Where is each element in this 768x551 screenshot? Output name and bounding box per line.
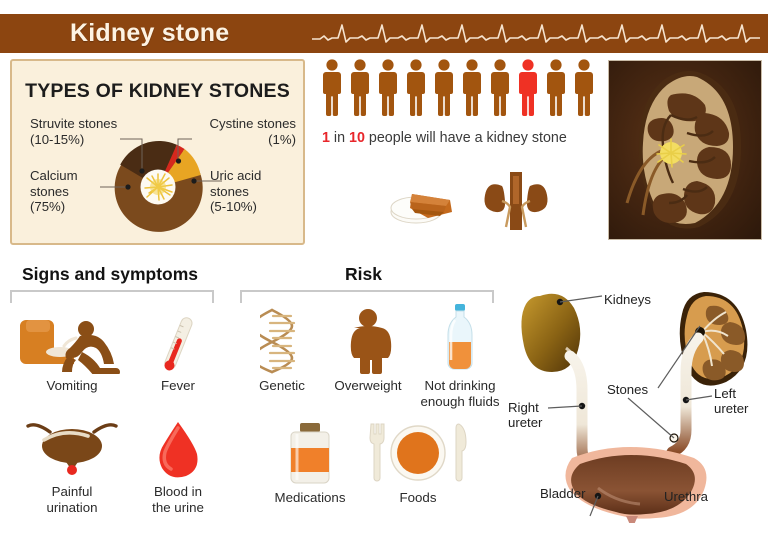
stat-highlight-number: 10 (349, 130, 365, 146)
pie-label-struvite: Struvite stones (10-15%) (30, 116, 165, 147)
symptom-vomiting: Vomiting (16, 312, 128, 394)
symptom-painful-urination-label: Painful urination (16, 484, 128, 515)
types-of-kidney-stones-panel: TYPES OF KIDNEY STONES (10, 59, 305, 245)
risk-foods-label: Foods (360, 490, 476, 506)
people-statistic-icons (322, 58, 598, 120)
kidneys-pair-illustration-icon (480, 168, 552, 234)
stat-middle-text: in (330, 130, 349, 146)
infographic-root: Kidney stone TYPES OF KIDNEY STONES (0, 0, 768, 551)
risk-genetic: Genetic (240, 308, 324, 394)
symptom-vomiting-label: Vomiting (16, 378, 128, 394)
kidney-stone-types-pie-chart (12, 61, 303, 243)
symptom-blood-in-urine-label: Blood in the urine (134, 484, 222, 515)
pie-label-calcium: Calcium stones (75%) (30, 168, 110, 215)
tract-label-stones: Stones (607, 382, 648, 397)
water-bottle-icon (410, 302, 510, 374)
pie-label-cystine: Cystine stones (1%) (178, 116, 296, 147)
signs-section-bracket (10, 290, 214, 303)
vomiting-icon (16, 312, 128, 374)
kidney-stone-in-dish-icon (388, 176, 464, 228)
ecg-heartbeat-line (312, 20, 760, 48)
pill-bottle-icon (262, 420, 358, 486)
tract-label-left-ureter: Left ureter (714, 386, 748, 416)
tract-label-urethra: Urethra (664, 489, 708, 504)
signs-and-symptoms-heading: Signs and symptoms (22, 264, 198, 285)
risk-not-drinking-fluids-label: Not drinking enough fluids (410, 378, 510, 409)
people-statistic-caption: 1 in 10 people will have a kidney stone (322, 130, 602, 146)
symptom-fever-label: Fever (134, 378, 222, 394)
risk-heading: Risk (345, 264, 382, 285)
symptom-fever: Fever (134, 312, 222, 394)
tract-label-kidneys: Kidneys (604, 292, 651, 307)
bladder-icon (16, 418, 128, 480)
plate-fork-knife-icon (360, 420, 476, 486)
risk-overweight: Overweight (318, 308, 418, 394)
risk-medications-label: Medications (262, 490, 358, 506)
pie-label-uric-acid: Uric acid stones (5-10%) (210, 168, 300, 215)
dna-helix-icon (240, 308, 324, 374)
risk-medications: Medications (262, 420, 358, 506)
thermometer-icon (134, 312, 222, 374)
symptom-painful-urination: Painful urination (16, 418, 128, 515)
page-title: Kidney stone (70, 19, 229, 48)
stat-suffix-text: people will have a kidney stone (365, 130, 567, 146)
tract-label-right-ureter: Right ureter (508, 400, 542, 430)
stat-prefix-number: 1 (322, 130, 330, 146)
blood-drop-icon (134, 418, 222, 480)
risk-not-drinking-fluids: Not drinking enough fluids (410, 302, 510, 409)
overweight-person-icon (318, 308, 418, 374)
tract-label-bladder: Bladder (540, 486, 585, 501)
risk-overweight-label: Overweight (318, 378, 418, 394)
risk-genetic-label: Genetic (240, 378, 324, 394)
symptom-blood-in-urine: Blood in the urine (134, 418, 222, 515)
kidney-cross-section-image (608, 60, 762, 240)
risk-foods: Foods (360, 420, 476, 506)
